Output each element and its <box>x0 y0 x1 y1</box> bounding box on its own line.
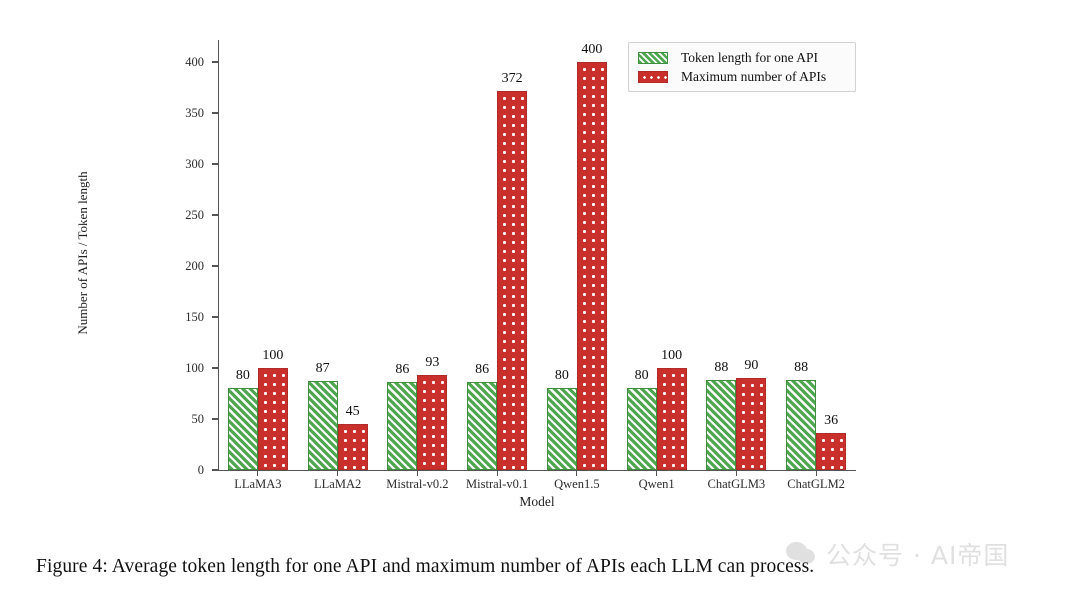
legend-swatch-green-hatched <box>638 52 668 64</box>
bar-token-length <box>547 388 577 470</box>
x-axis-title: Model <box>487 494 587 510</box>
y-tick-label: 300 <box>160 158 204 171</box>
bar-value-label: 372 <box>482 72 542 86</box>
y-tick-label: 0 <box>160 464 204 477</box>
legend-entry-max-apis: Maximum number of APIs <box>638 67 846 86</box>
x-tick-mark <box>337 470 338 476</box>
bar-token-length <box>706 380 736 470</box>
y-tick-mark <box>212 112 218 113</box>
y-tick-label: 100 <box>160 362 204 375</box>
x-tick-mark <box>257 470 258 476</box>
bar-token-length <box>308 381 338 470</box>
bar-value-label: 36 <box>801 414 861 428</box>
y-tick-mark <box>212 61 218 62</box>
bar-max-apis <box>816 433 846 470</box>
figure-caption: Figure 4: Average token length for one A… <box>36 556 1046 578</box>
y-tick-label: 150 <box>160 311 204 324</box>
legend-label-token-length: Token length for one API <box>681 50 818 66</box>
bar-token-length <box>467 382 497 470</box>
bar-max-apis <box>657 368 687 470</box>
y-axis-line <box>218 40 219 470</box>
bar-value-label: 100 <box>243 349 303 363</box>
x-tick-label: ChatGLM2 <box>761 478 871 492</box>
figure-4: 050100150200250300350400 LLaMA3LLaMA2Mis… <box>0 0 1080 530</box>
y-tick-label: 250 <box>160 209 204 222</box>
legend-entry-token-length: Token length for one API <box>638 48 846 67</box>
bar-token-length <box>627 388 657 470</box>
x-tick-mark <box>736 470 737 476</box>
bar-max-apis <box>417 375 447 470</box>
y-tick-mark <box>212 265 218 266</box>
y-tick-label: 200 <box>160 260 204 273</box>
y-tick-mark <box>212 418 218 419</box>
bar-token-length <box>387 382 417 470</box>
y-axis-title: Number of APIs / Token length <box>75 103 91 403</box>
y-tick-mark <box>212 214 218 215</box>
x-tick-mark <box>417 470 418 476</box>
y-tick-mark <box>212 316 218 317</box>
x-tick-mark <box>816 470 817 476</box>
bar-value-label: 45 <box>323 405 383 419</box>
bar-value-label: 400 <box>562 43 622 57</box>
bar-max-apis <box>577 62 607 470</box>
x-axis-line <box>218 470 856 471</box>
legend-swatch-red-dotted <box>638 71 668 83</box>
bar-max-apis <box>736 378 766 470</box>
bar-max-apis <box>338 424 368 470</box>
bar-max-apis <box>258 368 288 470</box>
y-tick-mark <box>212 163 218 164</box>
x-tick-mark <box>576 470 577 476</box>
y-tick-mark <box>212 367 218 368</box>
chart-legend: Token length for one API Maximum number … <box>628 42 856 92</box>
y-tick-label: 50 <box>160 413 204 426</box>
y-tick-label: 400 <box>160 56 204 69</box>
bar-token-length <box>228 388 258 470</box>
bar-value-label: 87 <box>293 362 353 376</box>
x-tick-mark <box>656 470 657 476</box>
y-tick-label: 350 <box>160 107 204 120</box>
x-tick-mark <box>497 470 498 476</box>
y-tick-mark <box>212 469 218 470</box>
legend-label-max-apis: Maximum number of APIs <box>681 69 826 85</box>
bar-max-apis <box>497 91 527 470</box>
bar-value-label: 88 <box>771 361 831 375</box>
bar-chart-plot-area: 050100150200250300350400 LLaMA3LLaMA2Mis… <box>0 0 1080 530</box>
